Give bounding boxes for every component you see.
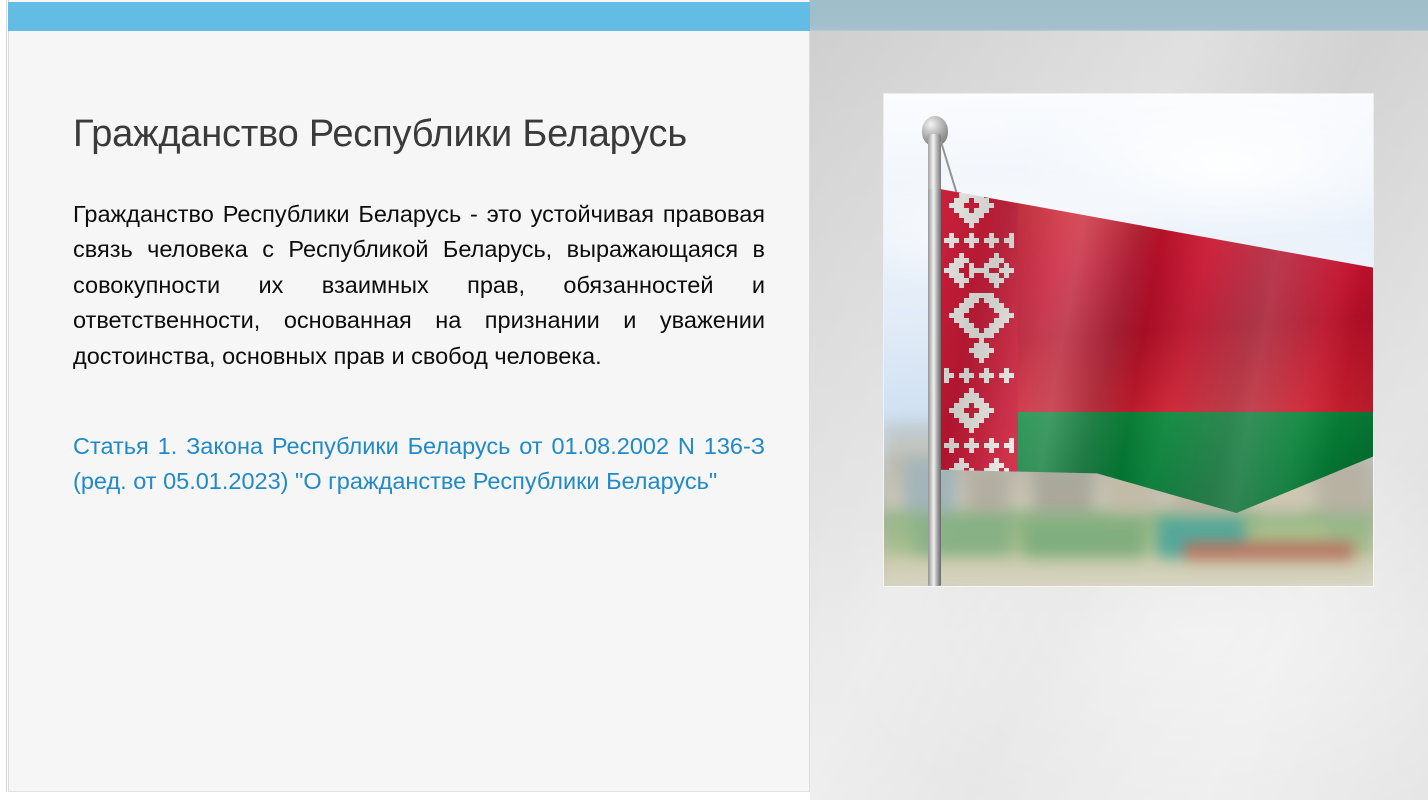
flagpole-foreground <box>928 189 941 586</box>
body-paragraph: Гражданство Республики Беларусь - это ус… <box>73 197 765 375</box>
belarus-flag-photo <box>884 94 1373 586</box>
page-title: Гражданство Республики Беларусь <box>73 113 773 156</box>
accent-bar <box>8 2 810 31</box>
panel-left-edge <box>6 0 7 792</box>
law-citation: Статья 1. Закона Республики Беларусь от … <box>73 429 765 500</box>
slide-canvas: Гражданство Республики Беларусь Гражданс… <box>0 0 1428 800</box>
